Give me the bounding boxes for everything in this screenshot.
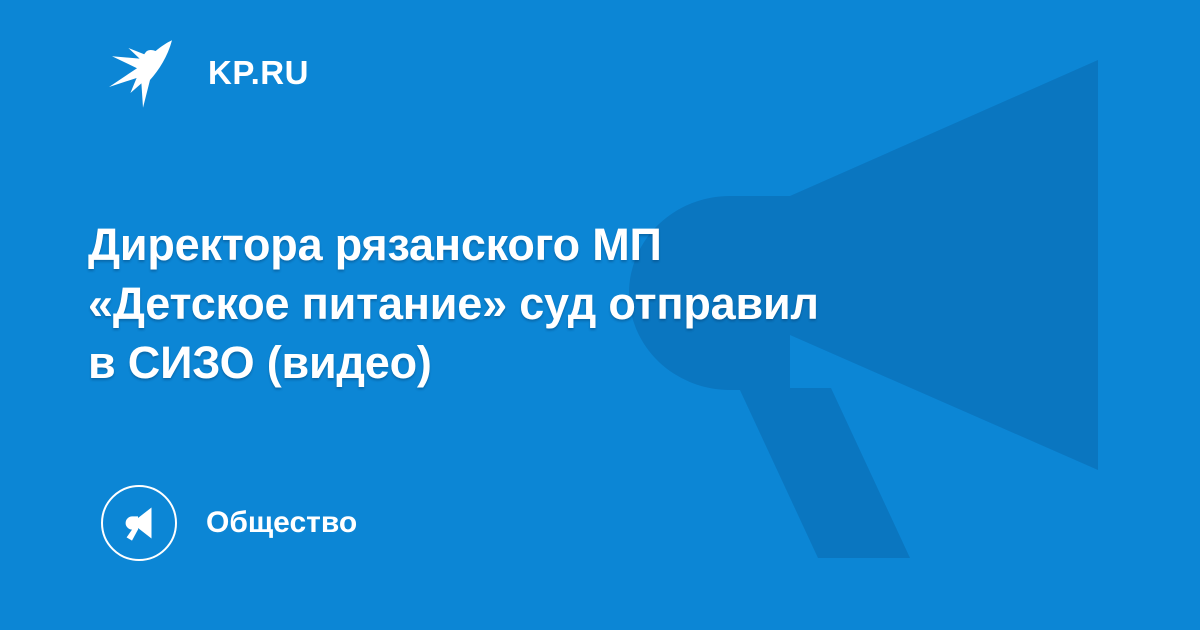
page-title: Директора рязанского МП «Детское питание… bbox=[88, 215, 1078, 392]
swallow-bird-icon bbox=[106, 36, 180, 108]
brand-name: KP.RU bbox=[208, 56, 309, 89]
megaphone-icon bbox=[101, 485, 177, 561]
category-badge[interactable]: Общество bbox=[101, 484, 357, 562]
brand-logo[interactable]: KP.RU bbox=[106, 36, 309, 108]
share-card: KP.RU Директора рязанского МП «Детское п… bbox=[0, 0, 1200, 630]
headline-line-1: Директора рязанского МП bbox=[88, 215, 1078, 274]
headline-line-2: «Детское питание» суд отправил bbox=[88, 274, 1078, 333]
category-label: Общество bbox=[206, 508, 357, 538]
headline-line-3: в СИЗО (видео) bbox=[88, 333, 1078, 392]
